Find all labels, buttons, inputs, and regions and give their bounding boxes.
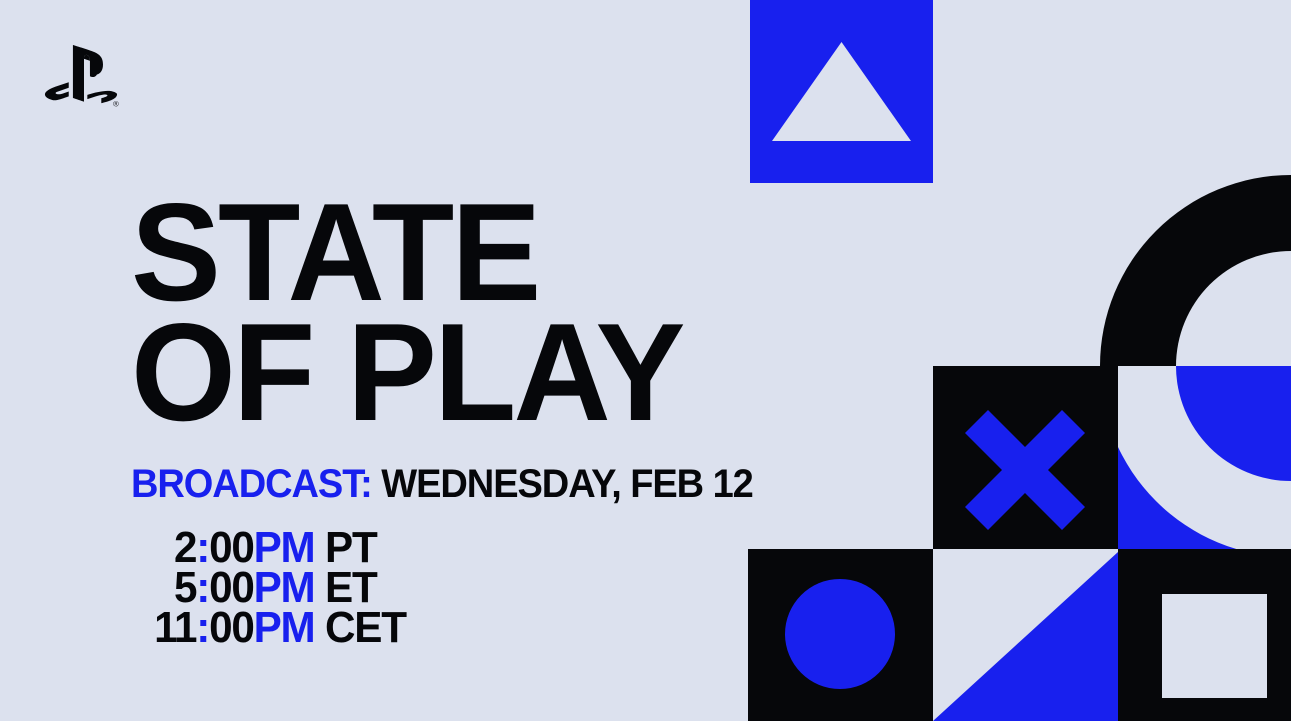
ring-row-black-sliver [1100,366,1118,549]
headline-line-2: OF PLAY [131,313,683,433]
square-tile-icon [1118,549,1291,721]
time-colon: : [196,606,209,650]
ring-blue-quadrant [1100,175,1291,557]
time-minutes: 00 [209,606,253,650]
time-row: 11:00PMCET [131,606,406,646]
page-title: STATE OF PLAY [131,193,683,432]
time-row: 5:00PMET [131,566,406,606]
time-meridiem: PM [254,606,315,650]
playstation-logo-icon: ® [38,42,124,108]
time-hour: 11 [131,606,196,650]
broadcast-value: WEDNESDAY, FEB 12 [381,462,752,506]
trademark-symbol: ® [113,99,119,108]
ring-arc-icon [1100,175,1291,557]
half-triangle-tile-icon [933,552,1118,721]
broadcast-times: 2:00PMPT 5:00PMET 11:00PMCET [131,526,406,646]
triangle-tile-icon [750,0,933,183]
cross-tile-icon [933,366,1118,549]
time-zone: CET [314,606,405,650]
broadcast-date: BROADCAST: WEDNESDAY, FEB 12 [131,462,753,507]
state-of-play-promo-graphic: ® STATE OF PLAY BROADCAST: WEDNESDAY, FE… [0,0,1291,721]
time-row: 2:00PMPT [131,526,406,566]
broadcast-label: BROADCAST: [131,462,372,506]
circle-tile-icon [748,549,933,721]
